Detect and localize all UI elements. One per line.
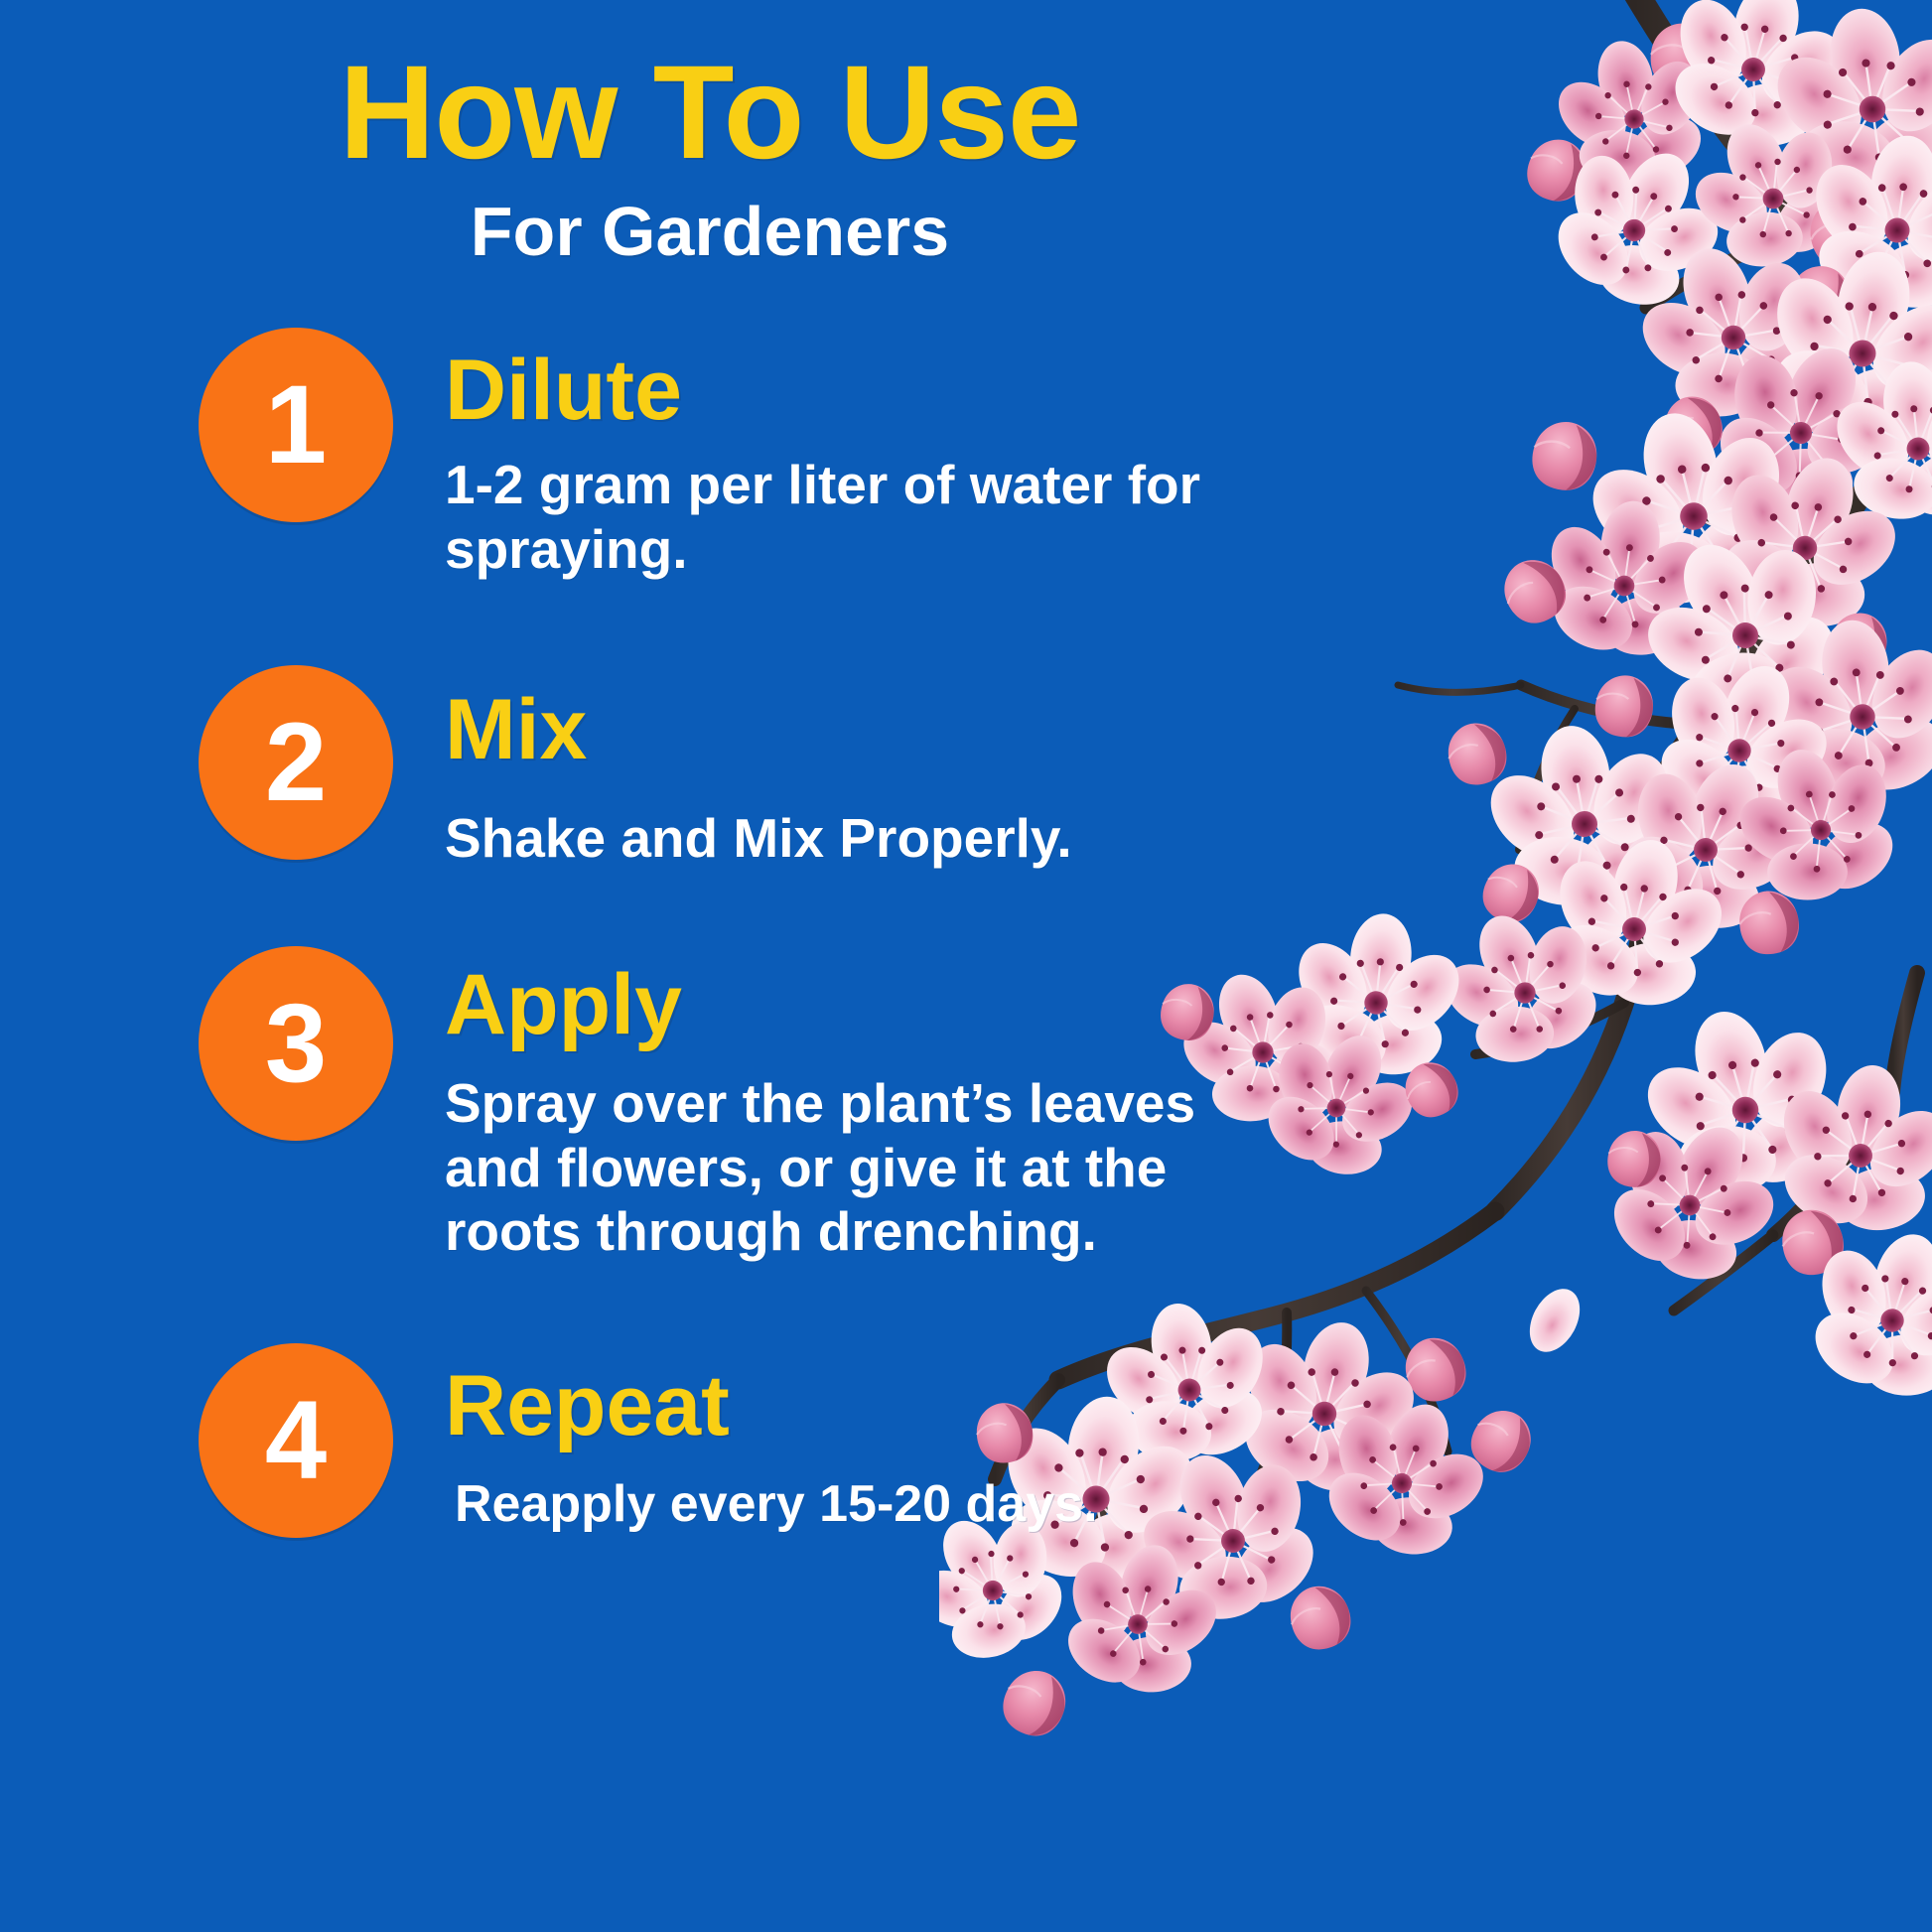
step-item-3: 3 Apply Spray over the plant’s leaves an… (0, 928, 1291, 1265)
step-description-1: 1-2 gram per liter of water for spraying… (445, 453, 1239, 582)
step-title-3: Apply (445, 962, 1291, 1047)
steps-list: 1 Dilute 1-2 gram per liter of water for… (0, 328, 1291, 1544)
header: How To Use For Gardeners (0, 0, 1420, 268)
page-title: How To Use (0, 46, 1420, 182)
blossom-cluster-mid (1493, 387, 1932, 861)
step-description-4: Reapply every 15-20 days. (445, 1474, 1249, 1535)
step-number-badge-1: 1 (199, 328, 393, 522)
poster-canvas: How To Use For Gardeners 1 Dilute 1-2 gr… (0, 0, 1932, 1932)
step-number-badge-4: 4 (199, 1343, 393, 1538)
step-title-1: Dilute (445, 347, 1291, 433)
falling-petal (1520, 1281, 1590, 1361)
step-content-1: Dilute 1-2 gram per liter of water for s… (393, 328, 1291, 582)
page-subtitle: For Gardeners (0, 196, 1420, 269)
step-title-2: Mix (445, 687, 1291, 772)
step-item-4: 4 Repeat Reapply every 15-20 days. (0, 1321, 1291, 1538)
blossom-cluster-upper (1608, 216, 1932, 549)
blossom-cluster-lowermid (1415, 708, 1928, 1093)
blossom-cluster-top (1517, 0, 1932, 342)
step-number-badge-3: 3 (199, 946, 393, 1141)
step-number-badge-2: 2 (199, 665, 393, 860)
step-content-3: Apply Spray over the plant’s leaves and … (393, 928, 1291, 1265)
step-title-4: Repeat (445, 1363, 1291, 1449)
step-item-2: 2 Mix Shake and Mix Properly. (0, 647, 1291, 871)
step-content-2: Mix Shake and Mix Properly. (393, 647, 1291, 871)
step-description-3: Spray over the plant’s leaves and flower… (445, 1071, 1239, 1265)
blossom-cluster-right-lower (1574, 983, 1932, 1426)
step-content-4: Repeat Reapply every 15-20 days. (393, 1321, 1291, 1535)
step-description-2: Shake and Mix Properly. (445, 806, 1239, 871)
step-item-1: 1 Dilute 1-2 gram per liter of water for… (0, 328, 1291, 582)
